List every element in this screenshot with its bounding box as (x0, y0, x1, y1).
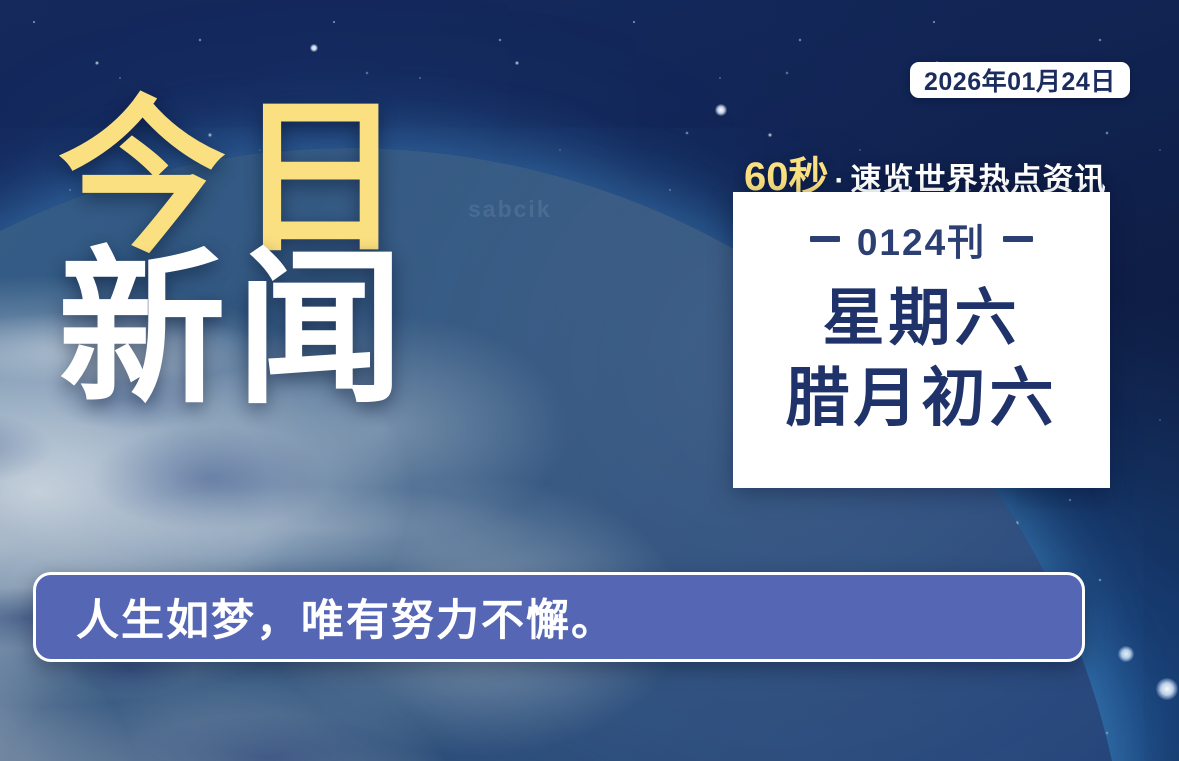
lunar-date-label: 腊月初六 (786, 365, 1058, 432)
title-line-xinwen: 新闻 (58, 247, 414, 412)
issue-row: 0124刊 (810, 212, 1033, 266)
info-card: 0124刊 星期六 腊月初六 (733, 192, 1110, 488)
quote-text: 人生如梦，唯有努力不懈。 (76, 586, 616, 648)
news-poster: sabcik 今日 新闻 2026年01月24日 60秒 · 速览世界热点资讯 … (0, 0, 1179, 761)
issue-dash-left-icon (810, 236, 840, 242)
issue-dash-right-icon (1003, 236, 1033, 242)
date-badge: 2026年01月24日 (910, 62, 1130, 98)
date-badge-label: 2026年01月24日 (924, 62, 1116, 98)
issue-label: 0124刊 (857, 212, 986, 266)
quote-bar: 人生如梦，唯有努力不懈。 (33, 572, 1085, 662)
weekday-label: 星期六 (822, 286, 1020, 351)
page-title: 今日 新闻 (58, 96, 414, 411)
watermark-text: sabcik (468, 196, 552, 223)
